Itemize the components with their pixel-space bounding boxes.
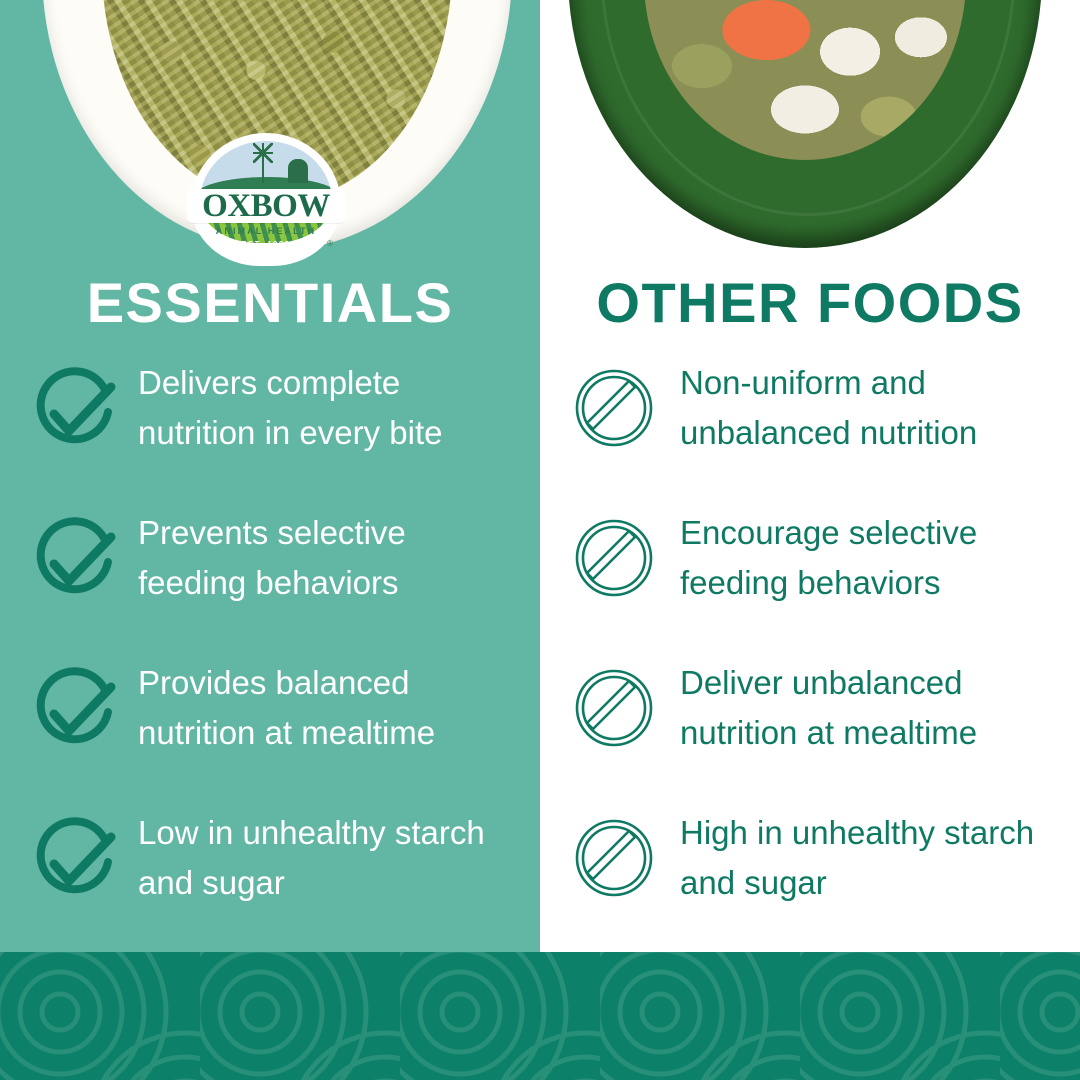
list-item: Deliver unbalanced nutrition at mealtime <box>540 658 1080 808</box>
essentials-title: ESSENTIALS <box>0 270 540 335</box>
no-entry-slash-icon <box>572 516 656 600</box>
concentric-circles-pattern <box>0 952 1080 1080</box>
list-item: Prevents selective feeding behaviors <box>0 508 540 658</box>
list-item-label: High in unhealthy starch and sugar <box>680 808 1065 908</box>
check-circle-icon <box>28 366 120 458</box>
green-bowl-shape <box>568 0 1042 248</box>
logo-established: EST. 1980 <box>191 239 341 248</box>
list-item-label: Deliver unbalanced nutrition at mealtime <box>680 658 1065 758</box>
comparison-body: ESSENTIALS Delivers complete nutrition i… <box>0 250 1080 952</box>
list-item-label: Encourage selective feeding behaviors <box>680 508 1065 608</box>
list-item: Provides balanced nutrition at mealtime <box>0 658 540 808</box>
check-circle-icon <box>28 666 120 758</box>
check-circle-icon <box>28 516 120 608</box>
list-item-label: Provides balanced nutrition at mealtime <box>138 658 513 758</box>
essentials-column: ESSENTIALS Delivers complete nutrition i… <box>0 250 540 952</box>
footer-pattern-band <box>0 952 1080 1080</box>
list-item-label: Prevents selective feeding behaviors <box>138 508 513 608</box>
list-item: Non-uniform and unbalanced nutrition <box>540 358 1080 508</box>
no-entry-slash-icon <box>572 666 656 750</box>
no-entry-slash-icon <box>572 816 656 900</box>
other-foods-column: OTHER FOODS Non-uniform and unbalan <box>540 250 1080 952</box>
logo-wordmark: OXBOW <box>191 189 341 223</box>
list-item: High in unhealthy starch and sugar <box>540 808 1080 958</box>
comparison-infographic: ESSENTIALS Delivers complete nutrition i… <box>0 0 1080 1080</box>
list-item-label: Low in unhealthy starch and sugar <box>138 808 513 908</box>
essentials-list: Delivers complete nutrition in every bit… <box>0 358 540 958</box>
other-foods-list: Non-uniform and unbalanced nutrition <box>540 358 1080 958</box>
logo-subtitle: ANIMAL HEALTH <box>191 226 341 236</box>
mixed-food-fill <box>644 0 966 160</box>
list-item: Encourage selective feeding behaviors <box>540 508 1080 658</box>
photo-zone <box>0 0 1080 250</box>
check-circle-icon <box>28 816 120 908</box>
other-foods-title: OTHER FOODS <box>540 270 1080 335</box>
list-item: Delivers complete nutrition in every bit… <box>0 358 540 508</box>
list-item: Low in unhealthy starch and sugar <box>0 808 540 958</box>
registered-trademark-icon: ® <box>327 239 333 248</box>
list-item-label: Non-uniform and unbalanced nutrition <box>680 358 1065 458</box>
no-entry-slash-icon <box>572 366 656 450</box>
oxbow-farm-badge: OXBOW ANIMAL HEALTH EST. 1980 ® <box>191 133 341 266</box>
list-item-label: Delivers complete nutrition in every bit… <box>138 358 513 458</box>
bowl-of-mixed-food-photo <box>540 0 1080 250</box>
